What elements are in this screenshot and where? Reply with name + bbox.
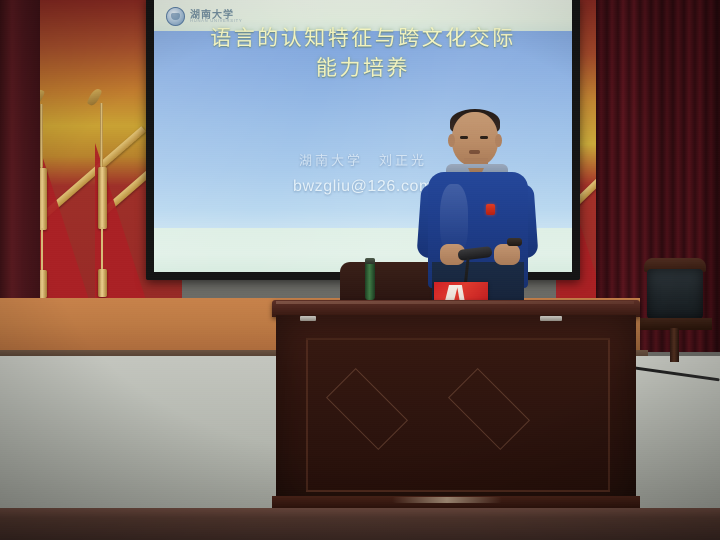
chair-leg: [670, 328, 679, 362]
banner-pole-2: [100, 103, 103, 167]
lecture-hall-photo: 湖南大学 HUNAN UNIVERSITY 语言的认知特征与跨文化交际 能力培养…: [0, 0, 720, 540]
banner-tassel-2: [98, 167, 107, 229]
banner-cord-1: [41, 228, 43, 272]
podium-scuff-mark: [392, 497, 502, 503]
speaker-ear-left: [448, 134, 455, 147]
banner-cord-2: [101, 227, 103, 271]
podium-plate-right: [540, 316, 562, 321]
podium-top-highlight: [276, 301, 634, 304]
stage-front-edge: [0, 508, 720, 540]
speaker-ear-right: [495, 134, 502, 147]
wooden-chair: [638, 258, 714, 362]
speaker-eye-left: [460, 136, 468, 139]
speaker-person: [406, 112, 556, 302]
slide-title-line-1: 语言的认知特征与跨文化交际: [154, 24, 572, 54]
banner-pole-1: [40, 104, 43, 168]
podium-plate-left: [300, 316, 316, 321]
green-water-bottle: [365, 262, 375, 300]
speaker-badge: [486, 204, 495, 215]
slide-title-line-2: 能力培养: [154, 54, 572, 84]
chair-backrest: [647, 269, 703, 319]
speaker-mouth: [469, 150, 480, 154]
slide-title: 语言的认知特征与跨文化交际 能力培养: [154, 24, 572, 84]
banner-tassel-lower-2: [98, 269, 107, 297]
university-name-english: HUNAN UNIVERSITY: [190, 18, 242, 23]
speaker-hand-right: [494, 244, 520, 265]
bottle-cap: [365, 258, 375, 264]
speaker-eye-right: [480, 136, 488, 139]
speaker-wristwatch: [507, 238, 522, 246]
